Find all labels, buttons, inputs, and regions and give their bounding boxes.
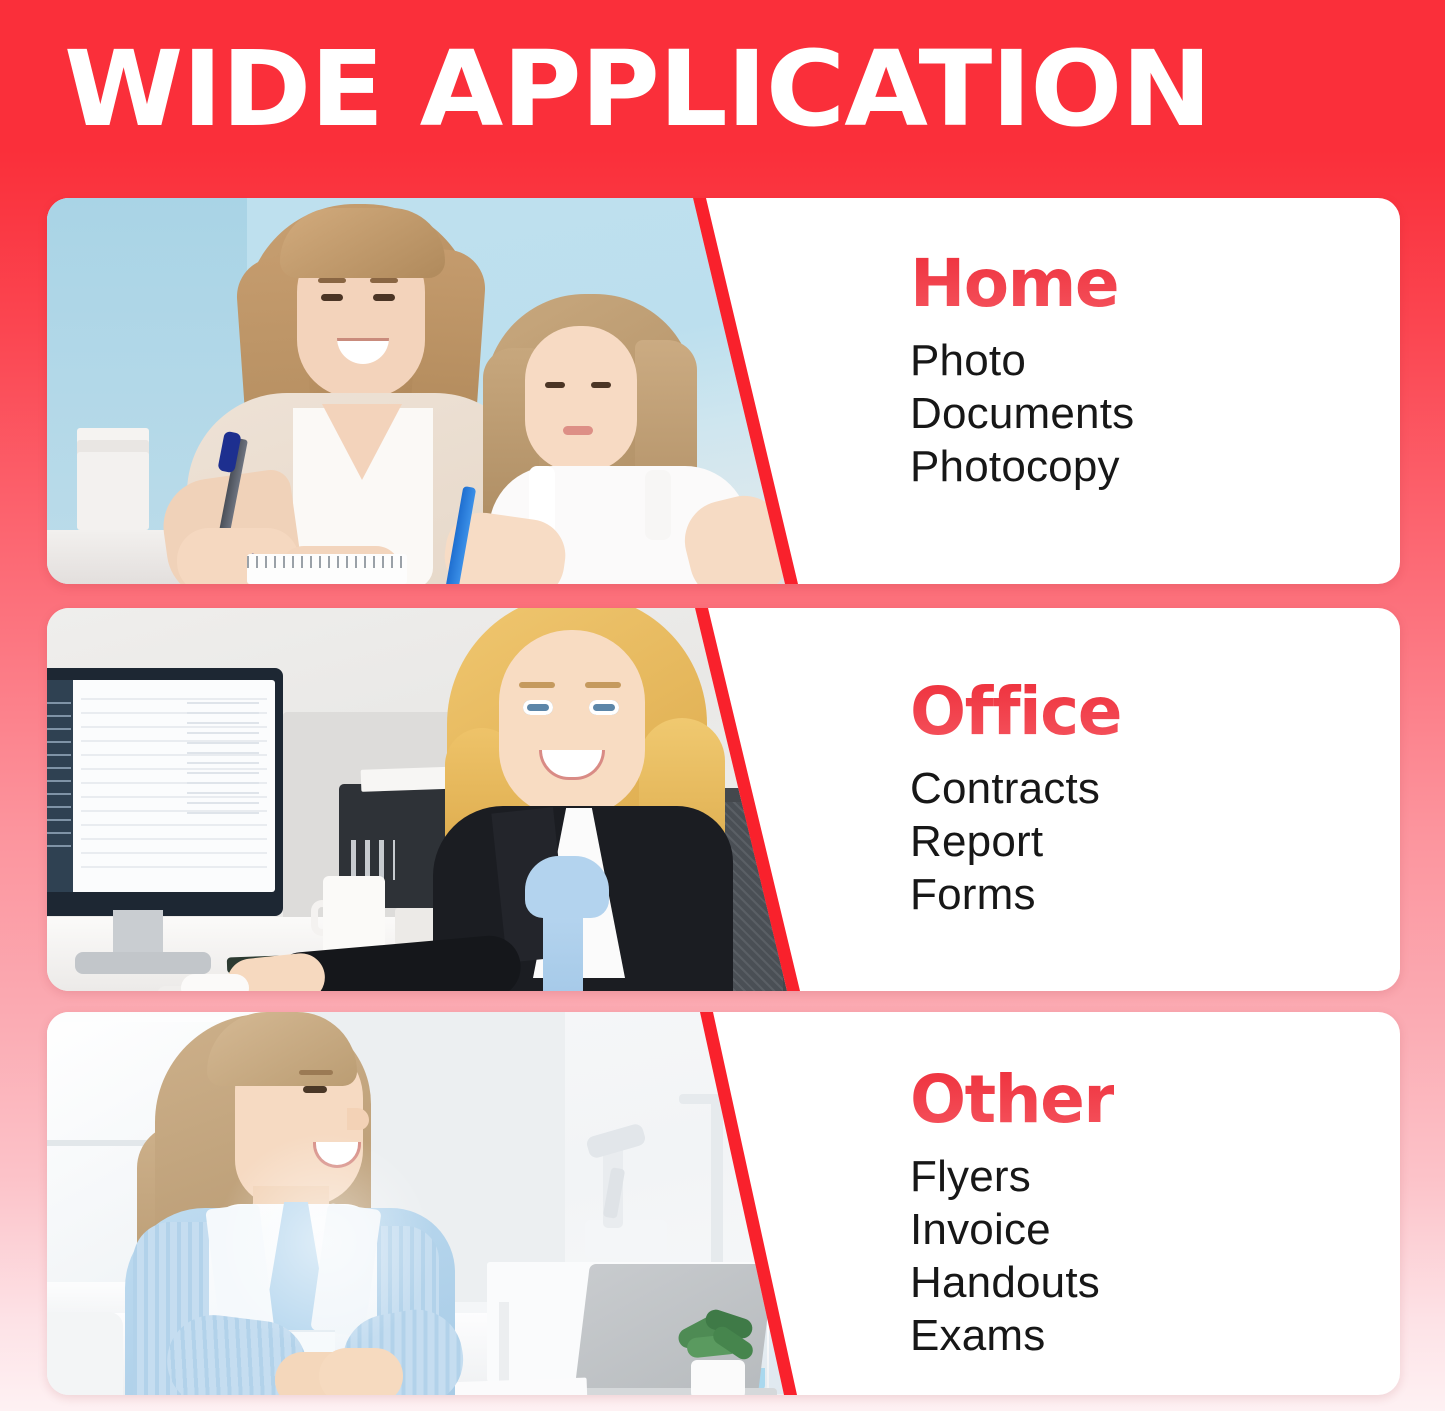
- plant-pot: [691, 1360, 745, 1395]
- list-item: Invoice: [910, 1203, 1114, 1256]
- lab-technician-at-laptop-photo: [47, 1012, 837, 1395]
- window-light-glow: [215, 1132, 435, 1352]
- page-title: WIDE APPLICATION: [64, 34, 1291, 144]
- list-item: Flyers: [910, 1150, 1114, 1203]
- woman-eye-left: [523, 700, 553, 715]
- list-item: Report: [910, 815, 1121, 868]
- back-table-leg: [499, 1302, 509, 1392]
- list-item: Photocopy: [910, 440, 1134, 493]
- microscope-base: [585, 1220, 667, 1258]
- category-heading-other: Other: [910, 1062, 1114, 1138]
- woman-eyebrow-left: [519, 682, 555, 688]
- test-tube-right: [769, 1328, 793, 1394]
- technician-hand-right: [319, 1348, 403, 1395]
- mother-hair-fringe: [280, 208, 445, 278]
- notebook-spiral: [247, 556, 407, 568]
- application-card-office: Office Contracts Report Forms: [47, 608, 1400, 991]
- monitor-text-column: [187, 702, 259, 822]
- text-panel-office: Office Contracts Report Forms: [860, 608, 1400, 991]
- list-item: Photo: [910, 334, 1134, 387]
- category-heading-office: Office: [910, 674, 1121, 750]
- woman-blue-bow: [525, 856, 609, 918]
- mother-eye-right: [373, 294, 395, 301]
- category-list-home: Photo Documents Photocopy: [910, 334, 1134, 493]
- mother-eye-left: [321, 294, 343, 301]
- mother-eyebrow-right: [370, 278, 398, 283]
- list-item: Forms: [910, 868, 1121, 921]
- technician-nose: [347, 1108, 369, 1130]
- mother-and-daughter-writing-homework-photo: [47, 198, 837, 584]
- child-lips: [563, 426, 593, 435]
- pen-holder: [351, 840, 395, 880]
- application-card-other: Other Flyers Invoice Handouts Exams: [47, 1012, 1400, 1395]
- woman-eyebrow-right: [585, 682, 621, 688]
- child-eye-right: [591, 382, 611, 388]
- lab-stand-arm: [679, 1094, 741, 1104]
- child-strap-right: [645, 470, 671, 540]
- list-item: Contracts: [910, 762, 1121, 815]
- monitor-stand-base: [75, 952, 211, 974]
- technician-eyebrow: [299, 1070, 333, 1075]
- child-face: [525, 326, 637, 472]
- monitor-sidebar-items: [47, 702, 71, 852]
- list-item: Exams: [910, 1309, 1114, 1362]
- category-list-other: Flyers Invoice Handouts Exams: [910, 1150, 1114, 1362]
- category-list-office: Contracts Report Forms: [910, 762, 1121, 921]
- woman-eye-right: [589, 700, 619, 715]
- woman-face: [499, 630, 645, 816]
- businesswoman-at-office-desk-photo: [47, 608, 837, 991]
- mother-eyebrow-left: [318, 278, 346, 283]
- computer-mouse: [181, 974, 249, 991]
- books-stack: [77, 452, 149, 530]
- lab-stand: [711, 1094, 723, 1284]
- list-item: Documents: [910, 387, 1134, 440]
- category-heading-home: Home: [910, 246, 1134, 322]
- child-eye-left: [545, 382, 565, 388]
- list-item: Handouts: [910, 1256, 1114, 1309]
- application-card-home: Home Photo Documents Photocopy: [47, 198, 1400, 584]
- chair-back: [47, 1312, 123, 1395]
- infographic-canvas: WIDE APPLICATION: [0, 0, 1445, 1411]
- text-panel-home: Home Photo Documents Photocopy: [860, 198, 1400, 584]
- technician-eye: [303, 1086, 327, 1093]
- text-panel-other: Other Flyers Invoice Handouts Exams: [860, 1012, 1400, 1395]
